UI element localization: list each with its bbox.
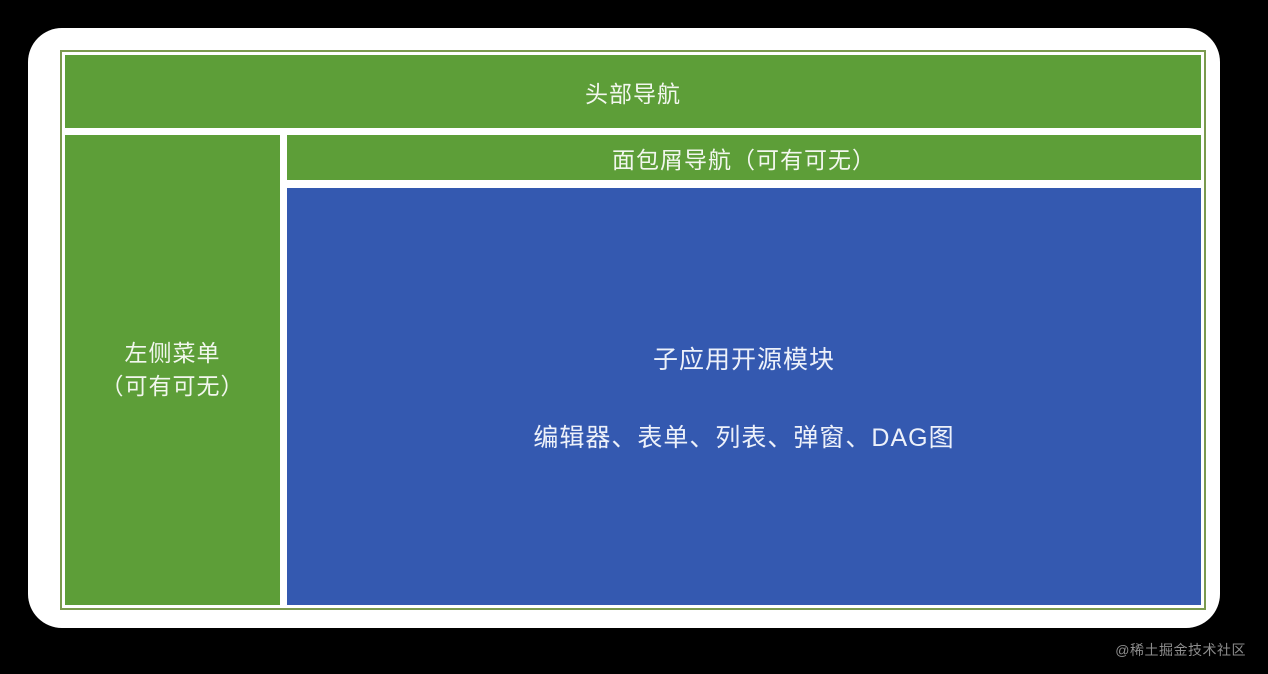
- breadcrumb-label: 面包屑导航（可有可无）: [612, 141, 876, 175]
- main-content-block[interactable]: 子应用开源模块 编辑器、表单、列表、弹窗、DAG图: [287, 188, 1201, 605]
- wireframe-frame: 头部导航 左侧菜单 （可有可无） 面包屑导航（可有可无）: [60, 50, 1206, 610]
- main-content-title: 子应用开源模块: [653, 340, 835, 376]
- side-menu-label: 左侧菜单: [125, 337, 221, 370]
- wireframe-grid: 头部导航 左侧菜单 （可有可无） 面包屑导航（可有可无）: [65, 55, 1201, 605]
- header-nav-label: 头部导航: [585, 75, 681, 109]
- side-menu-sub-label: （可有可无）: [101, 370, 245, 403]
- side-menu-block[interactable]: 左侧菜单 （可有可无）: [65, 135, 280, 605]
- watermark: @稀土掘金技术社区: [1115, 640, 1246, 660]
- breadcrumb-block[interactable]: 面包屑导航（可有可无）: [287, 135, 1201, 180]
- main-content-subtitle: 编辑器、表单、列表、弹窗、DAG图: [533, 418, 954, 454]
- layout-card: 头部导航 左侧菜单 （可有可无） 面包屑导航（可有可无）: [28, 28, 1220, 628]
- header-nav-block[interactable]: 头部导航: [65, 55, 1201, 128]
- right-column: 面包屑导航（可有可无） 子应用开源模块 编辑器、表单、列表、弹窗、DAG图: [287, 135, 1201, 605]
- body-row: 左侧菜单 （可有可无） 面包屑导航（可有可无） 子应用开源模块 编辑器、表单、列…: [65, 135, 1201, 605]
- screenshot-stage: 头部导航 左侧菜单 （可有可无） 面包屑导航（可有可无）: [0, 0, 1268, 674]
